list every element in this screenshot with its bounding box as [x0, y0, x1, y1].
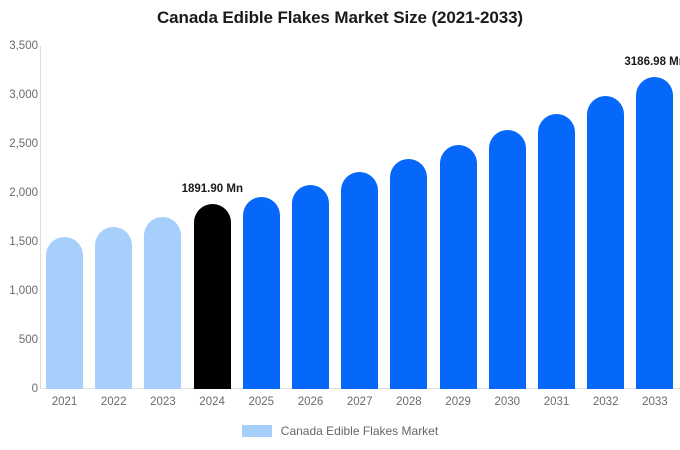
- chart-title: Canada Edible Flakes Market Size (2021-2…: [0, 8, 680, 28]
- bar-2025[interactable]: [243, 197, 280, 389]
- legend-swatch-canada-edible-flakes-market: [242, 425, 272, 437]
- plot-area: [40, 46, 680, 389]
- legend-label-canada-edible-flakes-market: Canada Edible Flakes Market: [281, 424, 438, 438]
- y-axis-tick-label: 2,000: [4, 187, 38, 199]
- bar-column: [194, 46, 231, 389]
- y-axis-tick-label: 2,500: [4, 138, 38, 150]
- x-axis-tick-label-2029: 2029: [434, 396, 483, 408]
- x-axis-tick-label-2023: 2023: [138, 396, 187, 408]
- bar-column: [95, 46, 132, 389]
- bar-2026[interactable]: [292, 185, 329, 389]
- bar-column: [144, 46, 181, 389]
- bar-2022[interactable]: [95, 227, 132, 389]
- bar-column: [538, 46, 575, 389]
- y-axis-tick-label: 1,500: [4, 236, 38, 248]
- bar-column: [587, 46, 624, 389]
- bar-2021[interactable]: [46, 237, 83, 389]
- bar-2031[interactable]: [538, 114, 575, 389]
- x-axis-tick-label-2032: 2032: [581, 396, 630, 408]
- x-axis-tick-label-2027: 2027: [335, 396, 384, 408]
- bar-column: [46, 46, 83, 389]
- bar-column: [390, 46, 427, 389]
- y-axis-tick-label: 3,000: [4, 89, 38, 101]
- bar-2030[interactable]: [489, 130, 526, 389]
- bar-2033[interactable]: [636, 77, 673, 389]
- x-axis-tick-label-2025: 2025: [237, 396, 286, 408]
- x-axis-tick-label-2030: 2030: [483, 396, 532, 408]
- x-axis-tick-label-2031: 2031: [532, 396, 581, 408]
- y-axis-tick-label: 0: [4, 383, 38, 395]
- bar-column: [243, 46, 280, 389]
- bar-2024[interactable]: [194, 204, 231, 389]
- x-axis-tick-label-2033: 2033: [630, 396, 679, 408]
- bar-column: [440, 46, 477, 389]
- bar-2028[interactable]: [390, 159, 427, 389]
- bar-2027[interactable]: [341, 172, 378, 389]
- y-axis-tick-label: 3,500: [4, 40, 38, 52]
- x-axis-tick-label-2028: 2028: [384, 396, 433, 408]
- x-axis-tick-label-2024: 2024: [188, 396, 237, 408]
- bar-chart: Canada Edible Flakes Market Size (2021-2…: [0, 0, 680, 450]
- bar-column: [636, 46, 673, 389]
- bar-column: [489, 46, 526, 389]
- value-label-2024: 1891.90 Mn: [182, 183, 243, 195]
- chart-legend[interactable]: Canada Edible Flakes Market: [0, 424, 680, 438]
- bar-column: [341, 46, 378, 389]
- y-axis-tick-label: 500: [4, 334, 38, 346]
- bar-column: [292, 46, 329, 389]
- x-axis-tick-label-2021: 2021: [40, 396, 89, 408]
- bar-2023[interactable]: [144, 217, 181, 389]
- y-axis-tick-label: 1,000: [4, 285, 38, 297]
- bar-2032[interactable]: [587, 96, 624, 389]
- bar-2029[interactable]: [440, 145, 477, 389]
- y-axis: 05001,0001,5002,0002,5003,0003,500: [0, 0, 38, 450]
- x-axis-tick-label-2026: 2026: [286, 396, 335, 408]
- value-label-2033: 3186.98 Mn: [624, 56, 680, 68]
- x-axis-tick-label-2022: 2022: [89, 396, 138, 408]
